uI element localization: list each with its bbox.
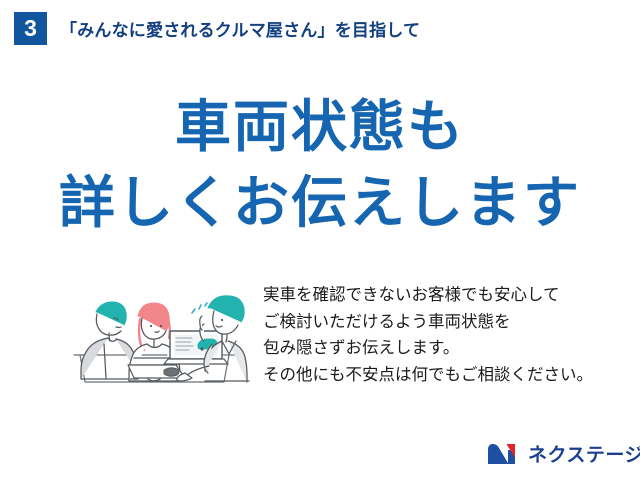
body-copy: 実車を確認できないお客様でも安心して ご検討いただけるよう車両状態を 包み隠さず… (263, 278, 593, 389)
headline-line-1: 車両状態も (0, 96, 640, 160)
headline-line-2: 詳しくお伝えします (0, 172, 640, 236)
body-copy-line-1: 実車を確認できないお客様でも安心して (263, 282, 593, 309)
brand-logo: ネクステージ (487, 440, 640, 467)
step-number-badge: 3 (14, 12, 47, 45)
body-copy-line-3: 包み隠さずお伝えします。 (263, 335, 593, 362)
header-title: 「みんなに愛されるクルマ屋さん」を目指して (60, 16, 420, 41)
consultation-illustration (52, 278, 257, 398)
headline: 車両状態も 詳しくお伝えします (0, 96, 640, 236)
content-row: 実車を確認できないお客様でも安心して ご検討いただけるよう車両状態を 包み隠さず… (0, 278, 640, 398)
promo-banner: 3 「みんなに愛されるクルマ屋さん」を目指して 車両状態も 詳しくお伝えします (0, 0, 640, 480)
body-copy-line-2: ご検討いただけるよう車両状態を (263, 309, 593, 336)
brand-name: ネクステージ (528, 440, 640, 467)
body-copy-line-4: その他にも不安点は何でもご相談ください。 (263, 362, 593, 389)
header: 3 「みんなに愛されるクルマ屋さん」を目指して (0, 0, 640, 57)
nextage-n-icon (487, 442, 521, 466)
